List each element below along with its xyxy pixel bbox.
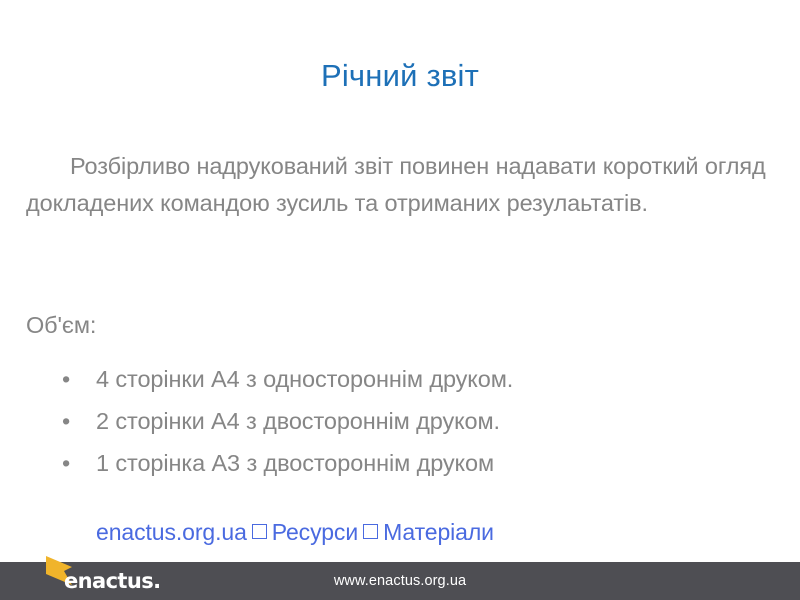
list-item: • 2 сторінки А4 з двостороннім друком. [62,400,772,442]
page-title: Річний звіт [0,57,800,94]
list-item: • 4 сторінки А4 з одностороннім друком. [62,358,772,400]
brand-name-label: enactus. [64,569,160,593]
breadcrumb-separator-icon [252,524,267,539]
breadcrumb[interactable]: enactus.org.uaРесурсиМатеріали [96,517,494,547]
list-item-label: 1 сторінка А3 з двостороннім друком [96,442,772,484]
list-item-label: 2 сторінки А4 з двостороннім друком. [96,400,772,442]
breadcrumb-site-link[interactable]: enactus.org.ua [96,519,247,545]
volume-label: Об'єм: [26,309,96,341]
slide: Річний звіт Розбірливо надрукований звіт… [0,0,800,600]
bullet-dot-icon: • [62,358,96,400]
bullet-dot-icon: • [62,442,96,484]
list-item: • 1 сторінка А3 з двостороннім друком [62,442,772,484]
list-item-label: 4 сторінки А4 з одностороннім друком. [96,358,772,400]
bullet-list: • 4 сторінки А4 з одностороннім друком. … [62,358,772,484]
body-block: Розбірливо надрукований звіт повинен над… [26,148,774,222]
intro-paragraph: Розбірливо надрукований звіт повинен над… [26,148,774,222]
brand-logo: enactus. [42,554,222,600]
breadcrumb-separator-icon [363,524,378,539]
bullet-dot-icon: • [62,400,96,442]
breadcrumb-subsection-label[interactable]: Матеріали [383,519,494,545]
breadcrumb-section-label[interactable]: Ресурси [272,519,358,545]
